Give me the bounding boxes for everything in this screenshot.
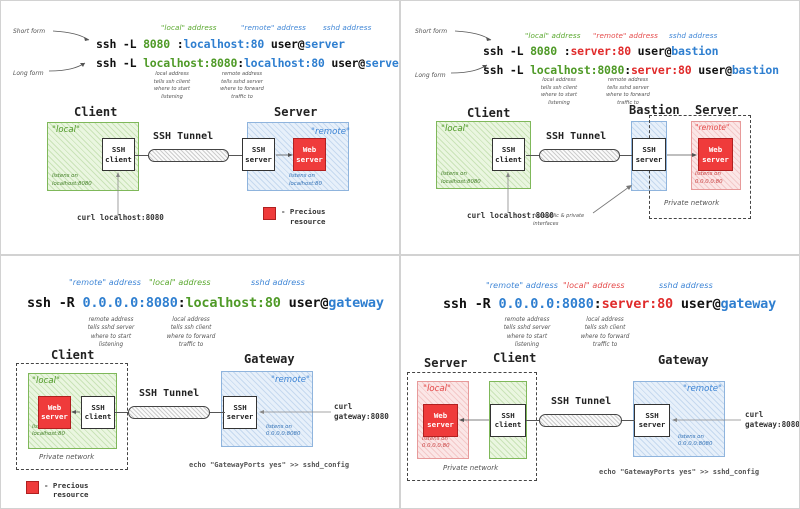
- header-sshd-address: sshd address: [659, 281, 713, 290]
- legend-text: - Precious resource: [281, 207, 326, 227]
- legend-swatch-precious: [263, 207, 276, 220]
- header-sshd-address: sshd address: [251, 278, 305, 287]
- node-ssh-server: SSHserver: [242, 138, 275, 171]
- zone-label-local: "local": [423, 384, 451, 394]
- node-web-server: Webserver: [293, 138, 326, 171]
- curl-command: curl gateway:8080: [745, 410, 800, 431]
- command-short-form: ssh -L 8080 :localhost:80 user@server: [96, 37, 345, 51]
- title-server: Server: [424, 356, 467, 370]
- header-remote-address: "remote" address: [241, 23, 306, 32]
- header-sshd-address: sshd address: [669, 31, 718, 40]
- node-web-server: Webserver: [38, 396, 71, 429]
- short-form-label: Short form: [13, 27, 45, 36]
- zone-label-local: "local": [441, 124, 469, 134]
- command-remote-forward: ssh -R 0.0.0.0:8080:localhost:80 user@ga…: [27, 295, 384, 311]
- node-web-server: Webserver: [423, 404, 458, 437]
- panel-remote-forward-server: "remote" address "local" address sshd ad…: [400, 255, 800, 509]
- command-long-form: ssh -L localhost:8080:localhost:80 user@…: [96, 56, 400, 70]
- zone-label-local: "local": [52, 125, 80, 135]
- curl-command: curl gateway:8080: [334, 402, 389, 423]
- header-remote-address: "remote" address: [69, 278, 141, 287]
- node-ssh-server: SSHserver: [634, 404, 670, 437]
- legend: - Precious resource: [263, 207, 326, 227]
- node-ssh-server: SSHserver: [632, 138, 666, 171]
- title-client: Client: [467, 106, 510, 120]
- ssh-tunnel: [539, 149, 620, 162]
- header-local-address: "local" address: [161, 23, 217, 32]
- gatewayports-command: echo "GatewayPorts yes" >> sshd_config: [599, 468, 759, 476]
- zone-label-remote: "remote": [271, 375, 310, 385]
- note-remote-address: remote address tells sshd server where t…: [73, 316, 149, 350]
- legend: - Precious resource: [26, 481, 89, 501]
- zone-note-remote: listens on localhost:80: [289, 173, 322, 189]
- zone-label-remote: "remote": [311, 127, 350, 137]
- curl-command: curl localhost:8080: [77, 213, 164, 222]
- long-form-label: Long form: [415, 71, 446, 80]
- zone-note-remote: listens on 0.0.0.0:80: [695, 171, 723, 187]
- title-server: Server: [274, 105, 317, 119]
- legend-swatch-precious: [26, 481, 39, 494]
- header-remote-address: "remote" address: [486, 281, 558, 290]
- node-ssh-client: SSHclient: [492, 138, 525, 171]
- ssh-tunnel-label: SSH Tunnel: [153, 131, 213, 142]
- link-client-tunnel: [526, 420, 540, 421]
- note-local-address: local address tells ssh client where to …: [139, 71, 205, 102]
- private-network-label: Private network: [39, 453, 94, 461]
- note-local-address: local address tells ssh client where to …: [153, 316, 229, 350]
- gatewayports-command: echo "GatewayPorts yes" >> sshd_config: [189, 461, 349, 469]
- note-remote-address: remote address tells sshd server where t…: [207, 71, 277, 102]
- private-network-label: Private network: [664, 199, 719, 207]
- zone-note-remote: listens on 0.0.0.0:8080: [266, 424, 300, 440]
- legend-text: - Precious resource: [44, 481, 89, 501]
- header-local-address: "local" address: [525, 31, 581, 40]
- private-network-label: Private network: [443, 464, 498, 472]
- link-tunnel-gateway: [621, 420, 635, 421]
- title-client: Client: [74, 105, 117, 119]
- node-ssh-client: SSHclient: [490, 404, 526, 437]
- zone-note-local: listens on localhost:8080: [52, 173, 92, 189]
- panel-local-forward-bastion: Short form Long form "local" address "re…: [400, 0, 800, 255]
- header-sshd-address: sshd address: [323, 23, 372, 32]
- header-local-address: "local" address: [149, 278, 211, 287]
- short-form-label: Short form: [415, 27, 447, 36]
- ssh-tunnel-label: SSH Tunnel: [139, 388, 199, 399]
- node-ssh-client: SSHclient: [102, 138, 135, 171]
- ssh-port-forwarding-sheet: Short form Long form "local" address "re…: [0, 0, 800, 509]
- ssh-tunnel-label: SSH Tunnel: [546, 131, 606, 142]
- zone-label-remote: "remote": [683, 384, 722, 394]
- long-form-label: Long form: [13, 69, 44, 78]
- zone-note-local: listens on localhost:8080: [441, 171, 481, 187]
- header-remote-address: "remote" address: [593, 31, 658, 40]
- ssh-tunnel: [539, 414, 622, 427]
- panel-remote-forward-direct: "remote" address "local" address sshd ad…: [0, 255, 400, 509]
- zone-note-local: listens on 0.0.0.0:80: [422, 436, 450, 452]
- ssh-tunnel: [128, 406, 210, 419]
- command-short-form: ssh -L 8080 :server:80 user@bastion: [483, 44, 718, 58]
- title-gateway: Gateway: [658, 353, 709, 367]
- bastion-interfaces-note: has public & private interfaces: [533, 213, 613, 228]
- node-ssh-client: SSHclient: [81, 396, 115, 429]
- note-local-address: local address tells ssh client where to …: [526, 77, 592, 108]
- zone-note-remote: listens on 0.0.0.0:8080: [678, 434, 712, 450]
- command-long-form: ssh -L localhost:8080:server:80 user@bas…: [483, 63, 779, 77]
- title-client: Client: [51, 348, 94, 362]
- zone-label-local: "local": [32, 376, 60, 386]
- ssh-tunnel: [148, 149, 229, 162]
- node-web-server: Webserver: [698, 138, 733, 171]
- panel-local-forward-direct: Short form Long form "local" address "re…: [0, 0, 400, 255]
- zone-label-remote: "remote": [695, 123, 729, 132]
- note-local-address: local address tells ssh client where to …: [567, 316, 643, 350]
- header-local-address: "local" address: [563, 281, 625, 290]
- ssh-tunnel-label: SSH Tunnel: [551, 396, 611, 407]
- note-remote-address: remote address tells sshd server where t…: [489, 316, 565, 350]
- node-ssh-server: SSHserver: [223, 396, 257, 429]
- command-remote-forward: ssh -R 0.0.0.0:8080:server:80 user@gatew…: [443, 296, 776, 312]
- title-gateway: Gateway: [244, 352, 295, 366]
- link-tunnel-gateway: [209, 412, 225, 413]
- title-client: Client: [493, 351, 536, 365]
